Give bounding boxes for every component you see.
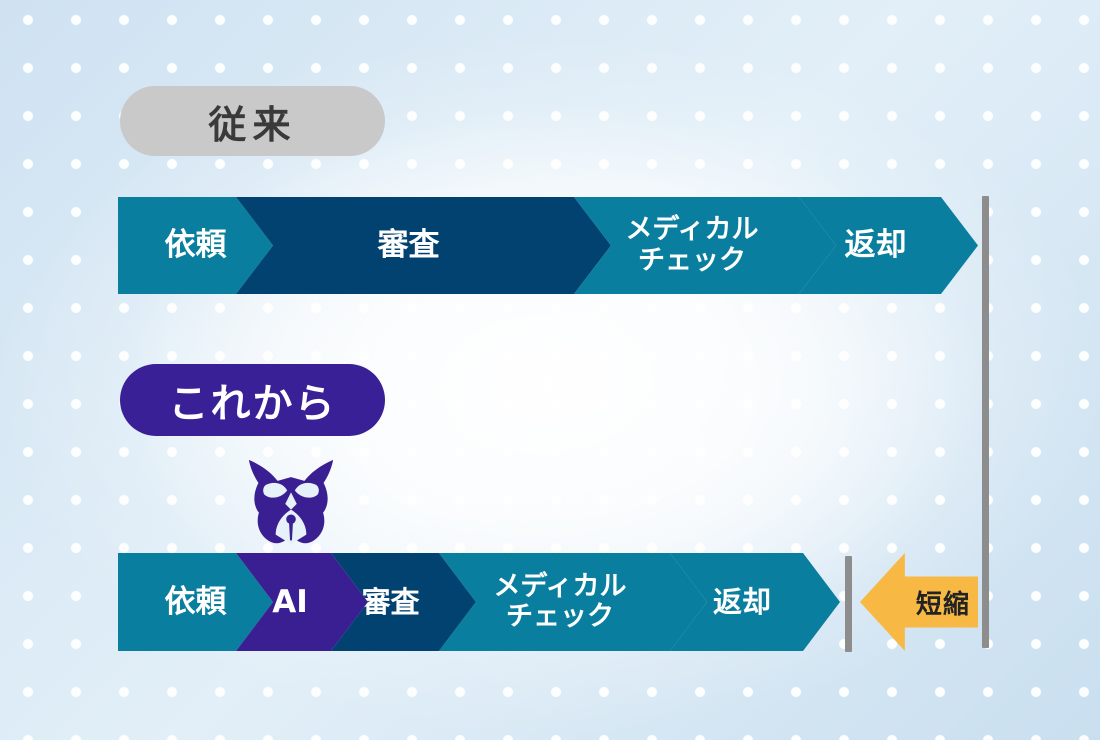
- step-label: 依頼: [165, 228, 227, 263]
- step-label: 返却: [845, 228, 907, 263]
- step-review-conventional: 審査: [236, 197, 611, 294]
- step-label: 審査: [361, 586, 419, 618]
- badge-conventional-label: 従来: [208, 94, 296, 149]
- timeline-end-marker-future: [845, 556, 852, 652]
- flow-future: 依頼 AI 審査 メディカル チェック 返却: [118, 553, 840, 651]
- step-medical-check-future: メディカル チェック: [439, 553, 707, 651]
- step-label-line1: メディカル: [625, 214, 758, 245]
- step-label: 返却: [713, 586, 771, 618]
- step-label: 審査: [378, 228, 440, 263]
- badge-conventional: 従来: [120, 86, 385, 156]
- step-medical-check-conventional: メディカル チェック: [574, 197, 836, 294]
- badge-future: これから: [120, 364, 385, 436]
- flow-conventional: 依頼 審査 メディカル チェック 返却: [118, 197, 978, 294]
- shorten-arrow: 短縮: [860, 553, 978, 651]
- step-label-line2: チェック: [638, 245, 746, 276]
- infographic-canvas: 従来 依頼 審査 メディカル チェック 返却 これから: [0, 0, 1100, 740]
- step-label-line2: チェック: [506, 601, 614, 632]
- badge-future-label: これから: [169, 371, 337, 429]
- step-label: メディカル チェック: [493, 572, 626, 632]
- step-label: AI: [272, 585, 308, 620]
- step-label-line1: メディカル: [493, 571, 626, 602]
- step-label: 依頼: [165, 585, 227, 620]
- shorten-arrow-label: 短縮: [916, 584, 970, 621]
- step-label: メディカル チェック: [625, 215, 758, 275]
- timeline-end-marker-conventional: [982, 196, 989, 648]
- owl-mascot-icon: [243, 456, 339, 548]
